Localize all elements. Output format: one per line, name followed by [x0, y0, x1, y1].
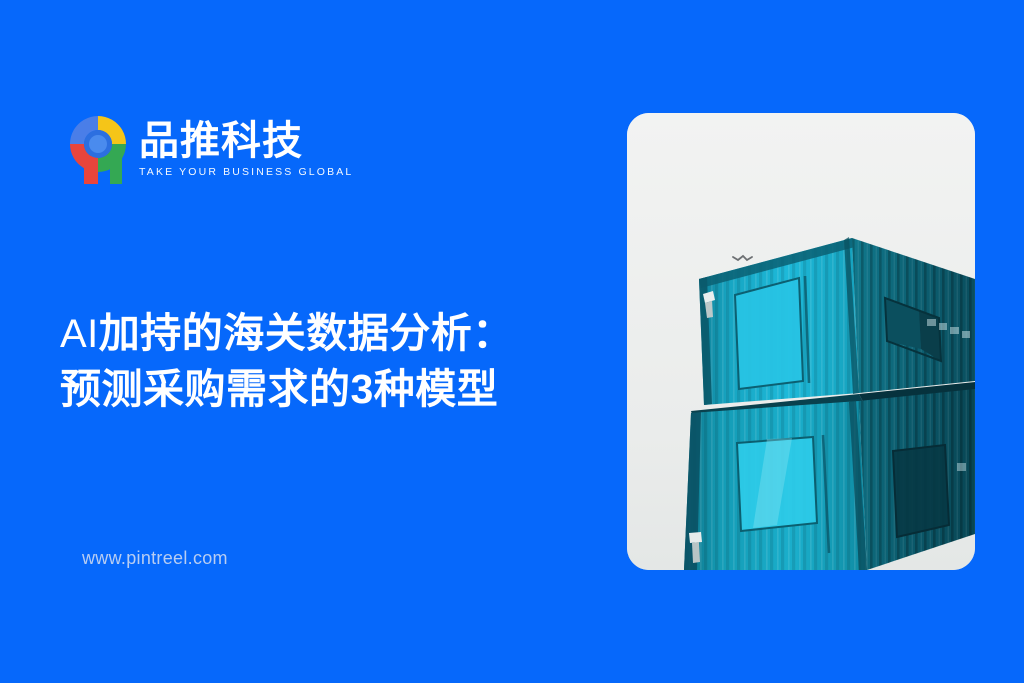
headline-line-1-cjk: 加持的海关数据分析：: [99, 310, 514, 356]
hero-photo-card: [627, 113, 975, 570]
website-url[interactable]: www.pintreel.com: [82, 548, 228, 569]
headline-line-1: AI加持的海关数据分析：: [60, 306, 580, 362]
pintreel-circular-logo-icon: [66, 112, 130, 184]
brand-tagline: TAKE YOUR BUSINESS GLOBAL: [139, 166, 353, 179]
brand-name: 品推科技: [139, 120, 353, 162]
shipping-containers-illustration: [627, 113, 975, 570]
brand-wordmark: 品推科技 TAKE YOUR BUSINESS GLOBAL: [139, 118, 353, 179]
headline-line-1-latin: AI: [60, 312, 99, 356]
promo-banner: 品推科技 TAKE YOUR BUSINESS GLOBAL AI加持的海关数据…: [0, 0, 1024, 683]
brand-logo[interactable]: 品推科技 TAKE YOUR BUSINESS GLOBAL: [66, 112, 353, 184]
headline-line-2: 预测采购需求的3种模型: [60, 362, 580, 417]
headline-block: AI加持的海关数据分析： 预测采购需求的3种模型: [60, 306, 580, 417]
